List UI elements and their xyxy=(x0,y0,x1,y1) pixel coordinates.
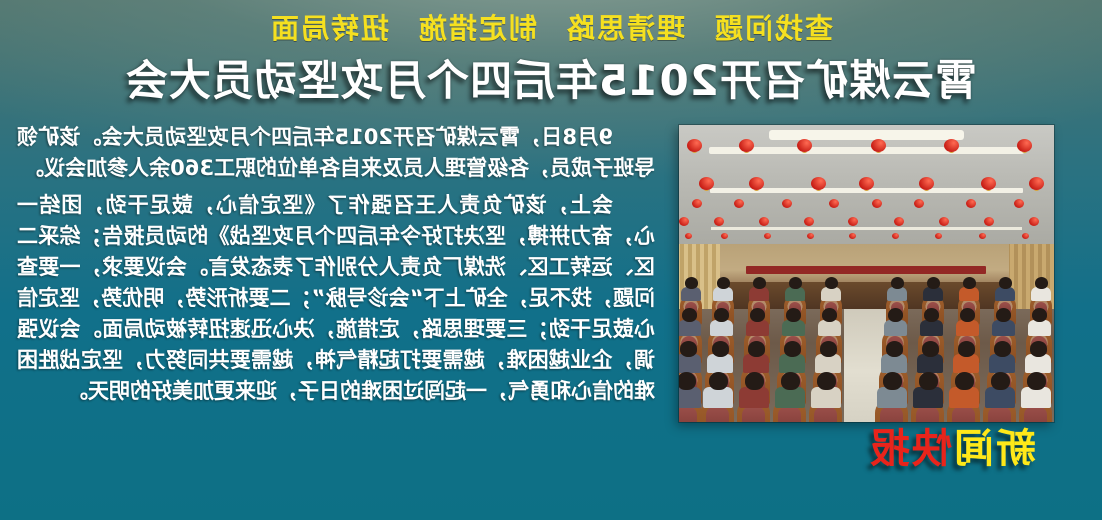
lantern-decoration xyxy=(1017,139,1032,152)
audience-person-torso xyxy=(959,287,979,301)
audience-person-torso xyxy=(811,387,841,408)
lantern-decoration xyxy=(679,217,689,226)
audience-person-head xyxy=(714,308,729,322)
audience-person-head xyxy=(745,372,764,390)
audience-person-head xyxy=(682,308,697,322)
audience-person-head xyxy=(1030,341,1047,357)
audience-person-head xyxy=(750,308,765,322)
audience-person-torso xyxy=(989,354,1015,372)
audience-person-torso xyxy=(920,320,943,336)
article-paragraph-2: 会上，该矿负责人王召强作了《坚定信心，鼓足干劲，团结一心，奋力拼搏，坚决打好今年… xyxy=(17,190,655,407)
news-flash-badge: 新闻快报 xyxy=(868,427,1036,471)
audience-person-head xyxy=(994,341,1011,357)
audience-person-torso xyxy=(679,387,701,408)
audience-person-torso xyxy=(953,354,979,372)
audience-person-torso xyxy=(746,320,769,336)
chair-cushion xyxy=(1024,406,1047,422)
slogan-phrase-2: 理清思路 xyxy=(565,12,685,45)
lantern-decoration xyxy=(892,233,899,239)
lantern-decoration xyxy=(966,199,976,208)
audience-person-head xyxy=(922,341,939,357)
audience-person-torso xyxy=(923,287,943,301)
audience-person-head xyxy=(963,277,976,289)
lantern-decoration xyxy=(872,199,882,208)
lantern-decoration xyxy=(699,177,714,190)
chair-cushion xyxy=(916,406,939,422)
audience-person-torso xyxy=(815,354,841,372)
audience-person-torso xyxy=(877,387,907,408)
audience-person-head xyxy=(789,277,802,289)
lantern-decoration xyxy=(734,199,744,208)
audience-person-head xyxy=(817,372,836,390)
audience-person-head xyxy=(748,341,765,357)
audience-person-head xyxy=(886,341,903,357)
audience-person-torso xyxy=(818,320,841,336)
audience-person-head xyxy=(685,277,698,289)
lantern-decoration xyxy=(849,233,856,239)
badge-text-red: 快报 xyxy=(868,426,952,472)
lantern-decoration xyxy=(807,233,814,239)
audience-person-torso xyxy=(749,287,769,301)
lantern-decoration xyxy=(759,217,769,226)
audience-person-head xyxy=(680,341,697,357)
conference-photo-image xyxy=(679,125,1054,422)
lantern-decoration xyxy=(749,177,764,190)
lantern-decoration xyxy=(935,233,942,239)
audience-person-head xyxy=(958,341,975,357)
news-poster: 查找问题理清思路制定措施扭转局面 霄云煤矿召开2015年后四个月攻坚动员大会 新… xyxy=(0,0,1102,520)
slogan-phrase-3: 制定措施 xyxy=(417,12,537,45)
audience-person-head xyxy=(784,341,801,357)
audience-person-torso xyxy=(713,287,733,301)
audience-person-head xyxy=(825,277,838,289)
audience-person-head xyxy=(712,341,729,357)
audience-person-torso xyxy=(985,387,1015,408)
lantern-decoration xyxy=(848,217,858,226)
lantern-decoration xyxy=(979,233,986,239)
audience-person-torso xyxy=(995,287,1015,301)
lantern-decoration xyxy=(981,177,996,190)
lantern-decoration xyxy=(714,217,724,226)
lantern-decoration xyxy=(919,177,934,190)
chair-cushion xyxy=(778,406,801,422)
audience-person-torso xyxy=(775,387,805,408)
lantern-decoration xyxy=(739,139,754,152)
audience-person-torso xyxy=(782,320,805,336)
lantern-decoration xyxy=(939,217,949,226)
lantern-decoration xyxy=(829,199,839,208)
audience-person-head xyxy=(717,277,730,289)
lantern-decoration xyxy=(804,217,814,226)
lantern-decoration xyxy=(859,177,874,190)
audience-person-head xyxy=(996,308,1011,322)
audience-person-torso xyxy=(881,354,907,372)
chair-cushion xyxy=(952,406,975,422)
page-title: 霄云煤矿召开2015年后四个月攻坚动员大会 xyxy=(0,55,1102,107)
audience-person-torso xyxy=(949,387,979,408)
audience-person-head xyxy=(960,308,975,322)
audience-person-torso xyxy=(681,287,701,301)
lantern-decoration xyxy=(1022,233,1029,239)
chair-cushion xyxy=(706,406,729,422)
audience-person-torso xyxy=(956,320,979,336)
audience-person-head xyxy=(786,308,801,322)
lantern-decoration xyxy=(797,139,812,152)
audience-person-head xyxy=(999,277,1012,289)
lantern-decoration xyxy=(764,233,771,239)
slogan-phrase-1: 查找问题 xyxy=(713,12,833,45)
audience-person-head xyxy=(888,308,903,322)
lantern-decoration xyxy=(984,217,994,226)
article-body: 9月8日，霄云煤矿召开2015年后四个月攻坚动员大会。该矿领导班子成员，各级管理… xyxy=(17,122,655,407)
audience-person-head xyxy=(753,277,766,289)
audience-person-torso xyxy=(679,320,701,336)
chair-cushion xyxy=(988,406,1011,422)
audience-person-head xyxy=(924,308,939,322)
audience-person-head xyxy=(709,372,728,390)
audience-person-torso xyxy=(1028,320,1051,336)
lantern-decoration xyxy=(721,233,728,239)
lantern-decoration xyxy=(685,233,692,239)
audience-person-torso xyxy=(1021,387,1051,408)
audience-person-head xyxy=(679,372,696,390)
lantern-decoration xyxy=(782,199,792,208)
audience-person-head xyxy=(927,277,940,289)
audience-person-head xyxy=(1035,277,1048,289)
badge-text-yellow: 新闻 xyxy=(952,426,1036,472)
audience-person-head xyxy=(919,372,938,390)
audience-person-head xyxy=(891,277,904,289)
audience-person-head xyxy=(991,372,1010,390)
chair-cushion xyxy=(679,406,697,422)
audience-person-head xyxy=(820,341,837,357)
lantern-decoration xyxy=(1029,217,1039,226)
lantern-decoration xyxy=(944,139,959,152)
lantern-decoration xyxy=(914,199,924,208)
audience-person-head xyxy=(1027,372,1046,390)
slogan-phrase-4: 扭转局面 xyxy=(269,12,389,45)
lantern-decoration xyxy=(871,139,886,152)
audience-person-torso xyxy=(703,387,733,408)
chair-cushion xyxy=(742,406,765,422)
audience-person-torso xyxy=(710,320,733,336)
audience-person-torso xyxy=(1025,354,1051,372)
lantern-decoration xyxy=(894,217,904,226)
audience-person-torso xyxy=(887,287,907,301)
audience-person-torso xyxy=(821,287,841,301)
lantern-decoration xyxy=(1029,177,1044,190)
audience-person-torso xyxy=(679,354,701,372)
audience-person-torso xyxy=(884,320,907,336)
conference-photo xyxy=(679,125,1054,422)
audience-person-torso xyxy=(739,387,769,408)
audience-person-head xyxy=(822,308,837,322)
photo-stage-banner xyxy=(747,266,987,274)
audience-person-head xyxy=(883,372,902,390)
audience-person-torso xyxy=(743,354,769,372)
lantern-decoration xyxy=(1014,199,1024,208)
subheading-slogan: 查找问题理清思路制定措施扭转局面 xyxy=(0,12,1102,46)
lantern-decoration xyxy=(692,199,702,208)
audience-person-torso xyxy=(785,287,805,301)
audience-person-torso xyxy=(707,354,733,372)
chair-cushion xyxy=(814,406,837,422)
audience-person-head xyxy=(781,372,800,390)
lantern-decoration xyxy=(811,177,826,190)
lantern-decoration xyxy=(687,139,702,152)
audience-person-torso xyxy=(1031,287,1051,301)
audience-person-torso xyxy=(917,354,943,372)
article-paragraph-1: 9月8日，霄云煤矿召开2015年后四个月攻坚动员大会。该矿领导班子成员，各级管理… xyxy=(17,122,655,184)
audience-person-head xyxy=(1032,308,1047,322)
chair-cushion xyxy=(880,406,903,422)
audience-person-torso xyxy=(779,354,805,372)
audience-person-torso xyxy=(992,320,1015,336)
audience-person-head xyxy=(955,372,974,390)
audience-person-torso xyxy=(913,387,943,408)
